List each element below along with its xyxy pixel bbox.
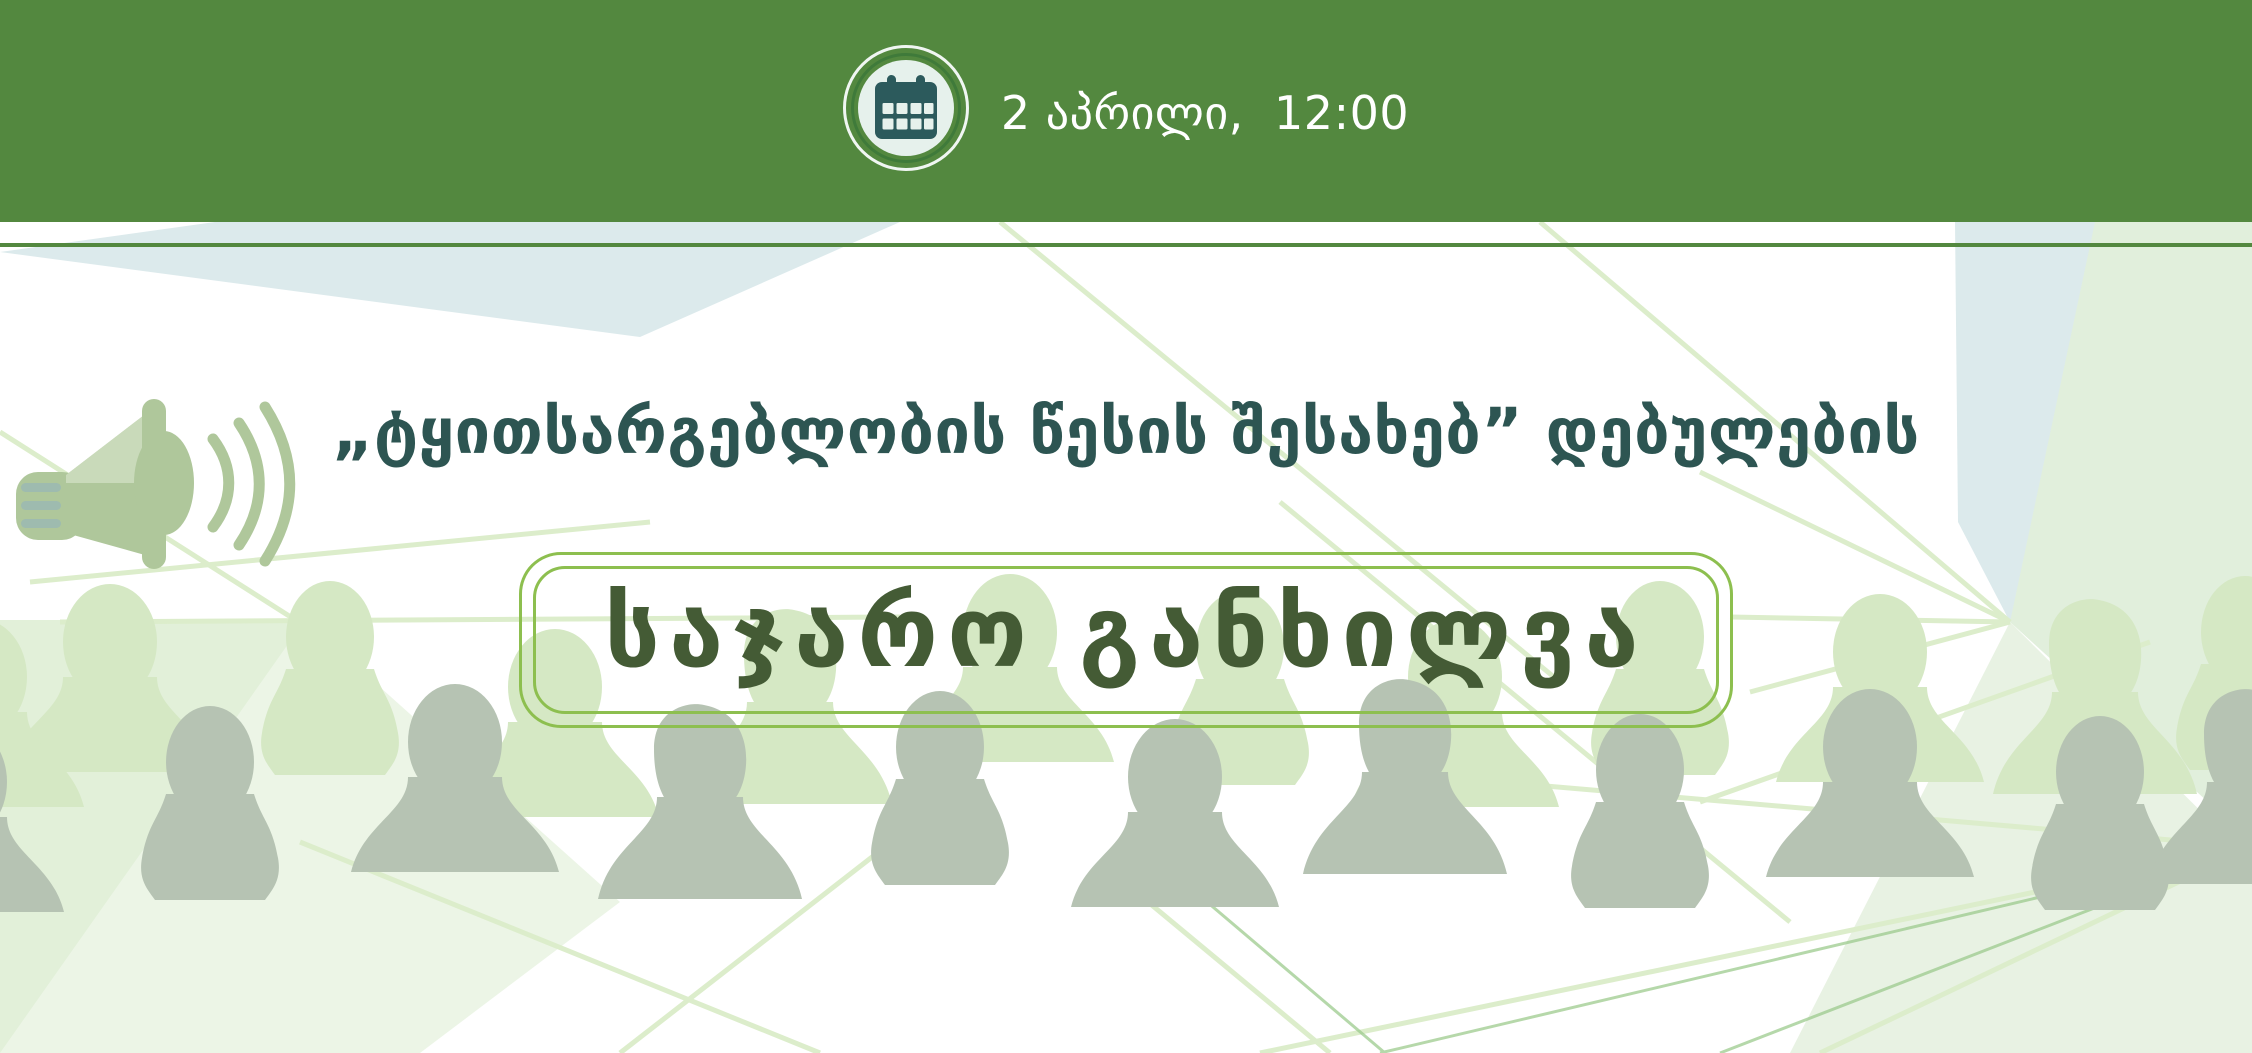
- page-title: „ტყითსარგებლობის წესის შესახებ” დებულები…: [0, 397, 2252, 466]
- headline-container: საჯარო განხილვა: [0, 552, 2252, 728]
- announcement-banner: 2 აპრილი, 12:00 „ტყითსარგებლობის: [0, 0, 2252, 1053]
- headline-border-outer: საჯარო განხილვა: [519, 552, 1732, 728]
- calendar-badge: [843, 45, 975, 177]
- headline-border-inner: საჯარო განხილვა: [533, 566, 1718, 714]
- headline-label: საჯარო განხილვა: [604, 579, 1647, 689]
- calendar-icon: [858, 60, 954, 156]
- header-bar: 2 აპრილი, 12:00: [0, 0, 2252, 222]
- header-divider: [0, 243, 2252, 247]
- event-datetime: 2 აპრილი, 12:00: [1001, 86, 1409, 136]
- header-content: 2 აპრილი, 12:00: [0, 0, 2252, 222]
